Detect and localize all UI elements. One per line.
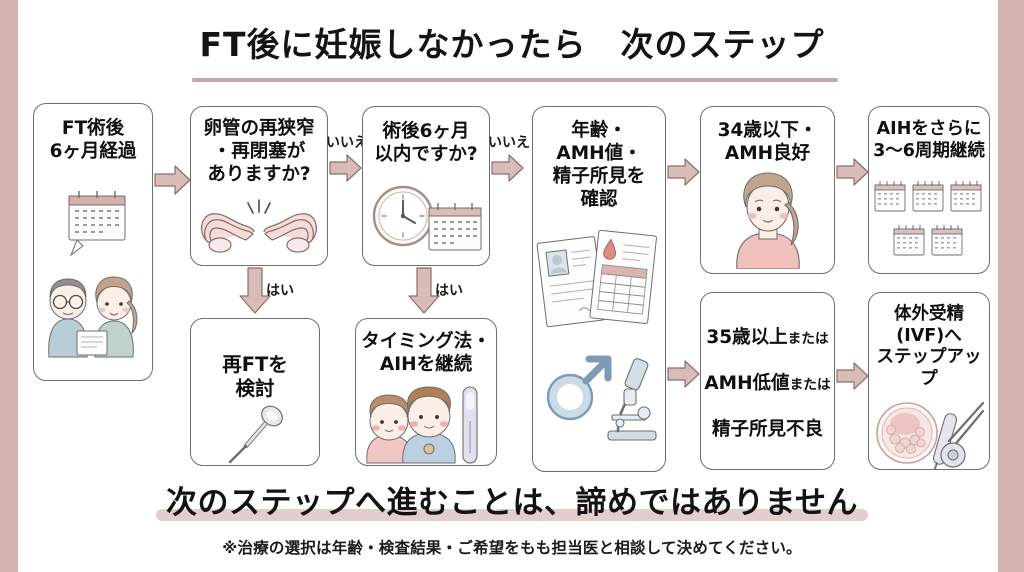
box-timing-aih[interactable]: タイミング法・ AIHを継続: [355, 318, 497, 466]
footer-note: ※治療の選択は年齢・検査結果・ご希望をもも担当医と相談して決めてください。: [0, 536, 1024, 558]
poor-line3: 精子所見不良: [712, 419, 823, 440]
edge-label-no-2: いいえ: [488, 132, 530, 152]
box-good-prognosis-label: 34歳以下・ AMH良好: [701, 120, 834, 166]
footer-headline-container: 次のステップへ進むことは、諦めではありません: [0, 486, 1024, 520]
box-good-prognosis[interactable]: 34歳以下・ AMH良好: [700, 106, 835, 274]
arrow-right-icon: [490, 152, 526, 184]
page-title: FT後に妊娠しなかったら 次のステップ: [193, 26, 830, 68]
five-calendars-illustration: [873, 172, 985, 264]
babies-and-thermometer-illustration: [359, 377, 493, 466]
calendar-and-couple-illustration: [37, 183, 149, 361]
box-question-restenosis-label: 卵管の再狭窄 ・再閉塞が ありますか?: [191, 118, 327, 187]
box-ivf-stepup[interactable]: 体外受精 (IVF)へ ステップアップ: [868, 292, 990, 470]
arrow-right-icon: [328, 152, 364, 184]
poor-line1-conj: または: [788, 331, 829, 347]
box-question-within6m[interactable]: 術後6ヶ月 以内ですか?: [362, 106, 490, 266]
arrow-right-icon: [835, 156, 871, 188]
surgical-instrument-illustration: [200, 402, 310, 464]
box-assess-label: 年齢・ AMH値・ 精子所見を 確認: [533, 120, 665, 212]
edge-label-yes-2: はい: [435, 280, 463, 300]
poor-line2-main: AMH低値: [704, 373, 789, 394]
footer-headline-text: 次のステップへ進むことは、諦めではありません: [166, 485, 858, 521]
box-question-restenosis[interactable]: 卵管の再狭窄 ・再閉塞が ありますか?: [190, 106, 328, 266]
poor-line2-conj: または: [790, 377, 831, 393]
fallopian-tube-illustration: [196, 198, 322, 254]
box-assess[interactable]: 年齢・ AMH値・ 精子所見を 確認: [532, 106, 666, 472]
records-male-symbol-microscope-illustration: [536, 225, 662, 457]
box-within6m-art: [363, 167, 489, 265]
older-woman-labsheet-sperm-illustration: [704, 465, 832, 470]
title-container: FT後に妊娠しなかったら 次のステップ: [0, 26, 1024, 68]
box-good-art: [701, 166, 834, 273]
box-poor-art: [701, 465, 834, 470]
arrow-assess-to-poor: [666, 358, 702, 390]
basal-thermometer-icon: [463, 387, 477, 463]
box-question-within6m-label: 術後6ヶ月 以内ですか?: [363, 121, 489, 167]
box-timing-art: [356, 377, 496, 466]
edge-label-yes-1: はい: [266, 280, 294, 300]
footer-headline: 次のステップへ進むことは、諦めではありません: [156, 486, 868, 520]
title-underline: [192, 78, 838, 82]
box-reft-label: 再FTを 検討: [191, 353, 319, 401]
arrow-right-icon: [835, 360, 871, 392]
arrow-assess-to-good: [666, 156, 702, 188]
box-ivf-stepup-label: 体外受精 (IVF)へ ステップアップ: [869, 304, 989, 391]
box-poor-prognosis-label: 35歳以上または AMH低値または 精子所見不良: [701, 304, 834, 465]
poor-line1-main: 35歳以上: [706, 327, 787, 348]
arrow-within6m-to-assess: [490, 152, 526, 184]
arrow-good-to-aih: [835, 156, 871, 188]
box-aih-continue-label: AIHをさらに 3〜6周期継続: [869, 119, 989, 162]
box-assess-art: [533, 212, 665, 471]
arrow-restenosis-to-within6m: [328, 152, 364, 184]
arrow-right-icon: [666, 358, 702, 390]
clock-and-calendar-illustration: [367, 180, 485, 252]
box-aih-art: [869, 162, 989, 273]
flowchart-canvas: FT後に妊娠しなかったら 次のステップ FT術後 6ヶ月経過: [0, 0, 1024, 572]
male-symbol-icon: [548, 359, 608, 419]
arrow-right-icon: [666, 156, 702, 188]
box-start-art: [34, 164, 152, 380]
arrow-start-to-restenosis: [153, 162, 193, 198]
box-start[interactable]: FT術後 6ヶ月経過: [33, 103, 153, 381]
young-woman-illustration: [713, 169, 823, 269]
embryo-and-ivf-tools-illustration: [873, 391, 985, 470]
arrow-poor-to-ivf: [835, 360, 871, 392]
microscope-icon: [608, 358, 656, 441]
box-restenosis-art: [191, 187, 327, 265]
box-start-label: FT術後 6ヶ月経過: [34, 118, 152, 164]
box-reft-art: [191, 401, 319, 465]
arrow-right-icon: [153, 162, 193, 198]
box-timing-aih-label: タイミング法・ AIHを継続: [356, 331, 496, 377]
box-poor-prognosis[interactable]: 35歳以上または AMH低値または 精子所見不良: [700, 292, 835, 470]
box-ivf-art: [869, 391, 989, 470]
box-reft[interactable]: 再FTを 検討: [190, 318, 320, 466]
box-aih-continue[interactable]: AIHをさらに 3〜6周期継続: [868, 106, 990, 274]
